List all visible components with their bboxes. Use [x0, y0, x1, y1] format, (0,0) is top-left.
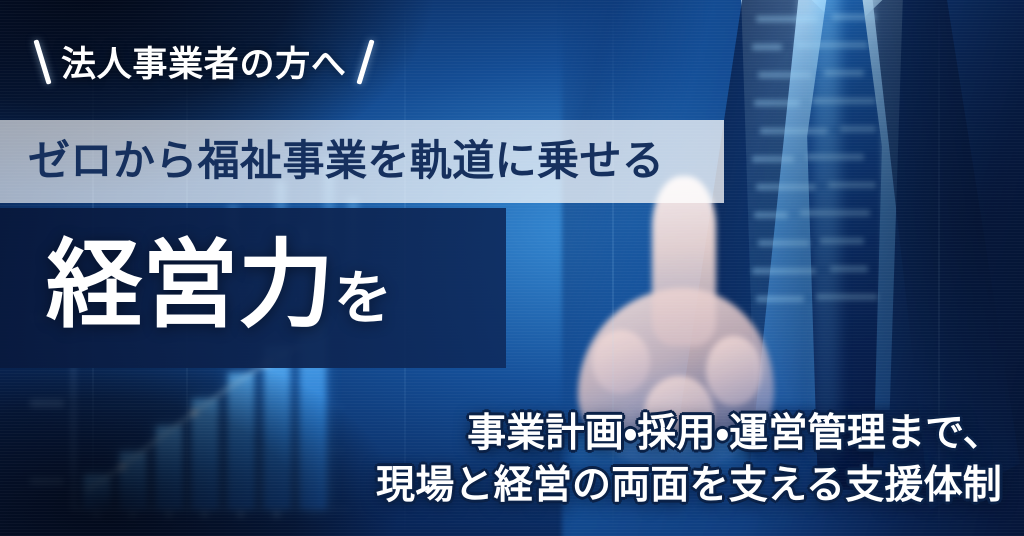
banner-content: 法人事業者の方へ ゼロから福祉事業を軌道に乗せる 経営力を 事業計画・採用・運営…: [0, 0, 1024, 536]
hero-banner: 法人事業者の方へ ゼロから福祉事業を軌道に乗せる 経営力を 事業計画・採用・運営…: [0, 0, 1024, 536]
tagline-line-1: 事業計画・採用・運営管理まで、: [376, 408, 1002, 460]
headline-emphasis: 経営力: [46, 232, 334, 339]
kicker-line: 法人事業者の方へ: [40, 36, 368, 87]
tagline-line-2: 現場と経営の両面を支える支援体制: [376, 460, 1002, 512]
kicker-text: 法人事業者の方へ: [61, 36, 347, 87]
forward-slash-mark: [356, 39, 374, 84]
subhead-text: ゼロから福祉事業を軌道に乗せる: [28, 128, 664, 194]
headline: 経営力を: [46, 226, 392, 374]
backslash-mark: [33, 39, 51, 84]
headline-particle: を: [334, 266, 392, 331]
tagline: 事業計画・採用・運営管理まで、 現場と経営の両面を支える支援体制: [376, 408, 1002, 512]
